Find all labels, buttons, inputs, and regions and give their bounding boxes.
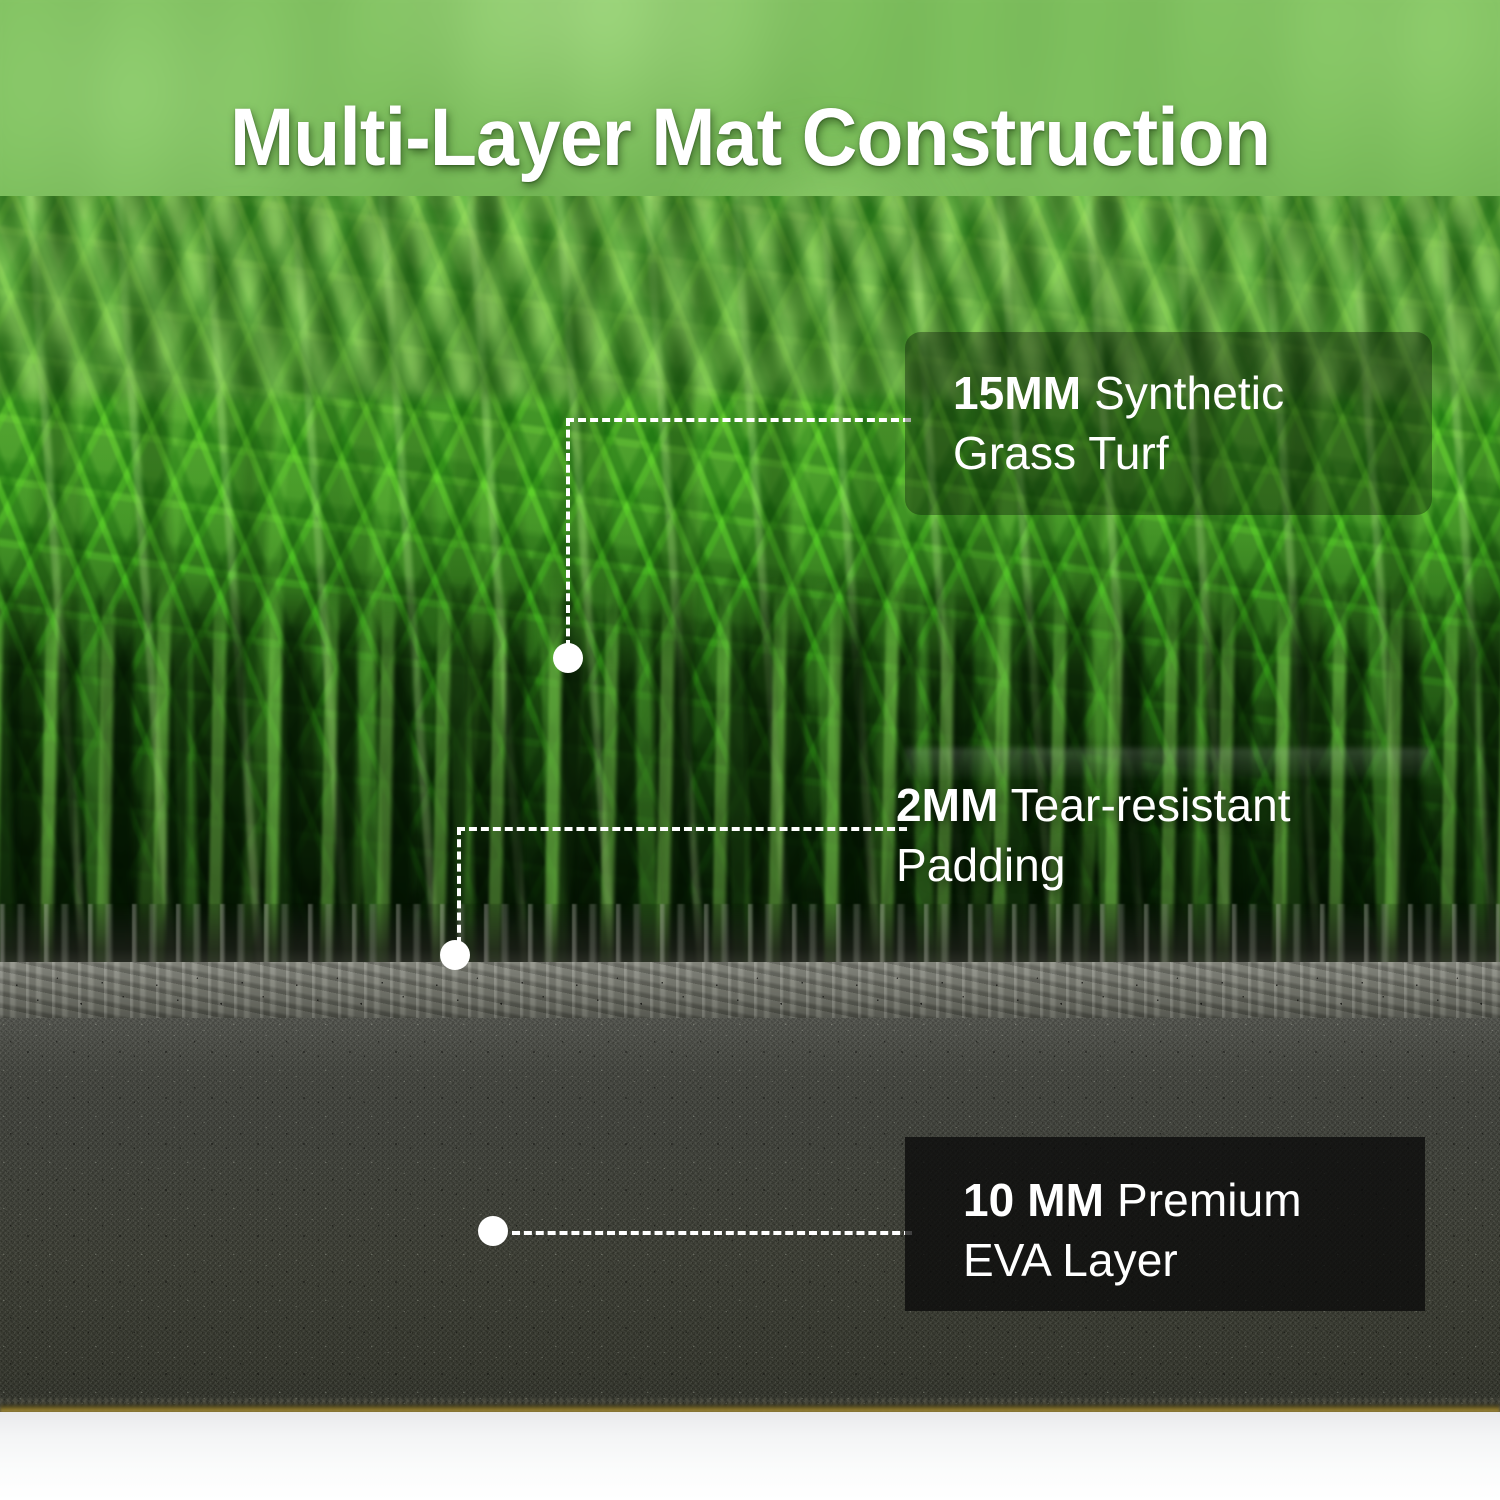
callout-turf-spec: 15MM bbox=[953, 367, 1081, 419]
callout-padding-text: 2MM Tear-resistant Padding bbox=[896, 776, 1436, 896]
white-floor-surface bbox=[0, 1412, 1500, 1500]
callout-turf-text: 15MM Synthetic Grass Turf bbox=[953, 364, 1383, 484]
leader-line-turf-horizontal bbox=[566, 418, 911, 422]
callout-premium-eva-layer: 10 MM Premium EVA Layer bbox=[905, 1137, 1425, 1311]
leader-line-turf-vertical bbox=[566, 418, 570, 648]
leader-dot-eva bbox=[478, 1216, 508, 1246]
infographic-canvas: Multi-Layer Mat Construction 15MM Synthe… bbox=[0, 0, 1500, 1500]
callout-padding-spec: 2MM bbox=[896, 779, 999, 831]
padding-speckle-texture bbox=[0, 962, 1500, 1020]
callout-eva-text: 10 MM Premium EVA Layer bbox=[963, 1171, 1383, 1291]
page-title: Multi-Layer Mat Construction bbox=[45, 96, 1455, 180]
callout-tear-resistant-padding: 2MM Tear-resistant Padding bbox=[896, 776, 1436, 906]
turf-thatch-root-line bbox=[0, 904, 1500, 968]
leader-line-padding-horizontal bbox=[457, 827, 907, 831]
soft-highlight-band bbox=[905, 748, 1432, 778]
callout-synthetic-grass-turf: 15MM Synthetic Grass Turf bbox=[905, 332, 1432, 515]
leader-dot-padding bbox=[440, 940, 470, 970]
leader-line-padding-vertical bbox=[457, 827, 461, 945]
callout-eva-spec: 10 MM bbox=[963, 1174, 1104, 1226]
leader-line-eva-horizontal bbox=[512, 1231, 912, 1235]
leader-dot-turf bbox=[553, 643, 583, 673]
